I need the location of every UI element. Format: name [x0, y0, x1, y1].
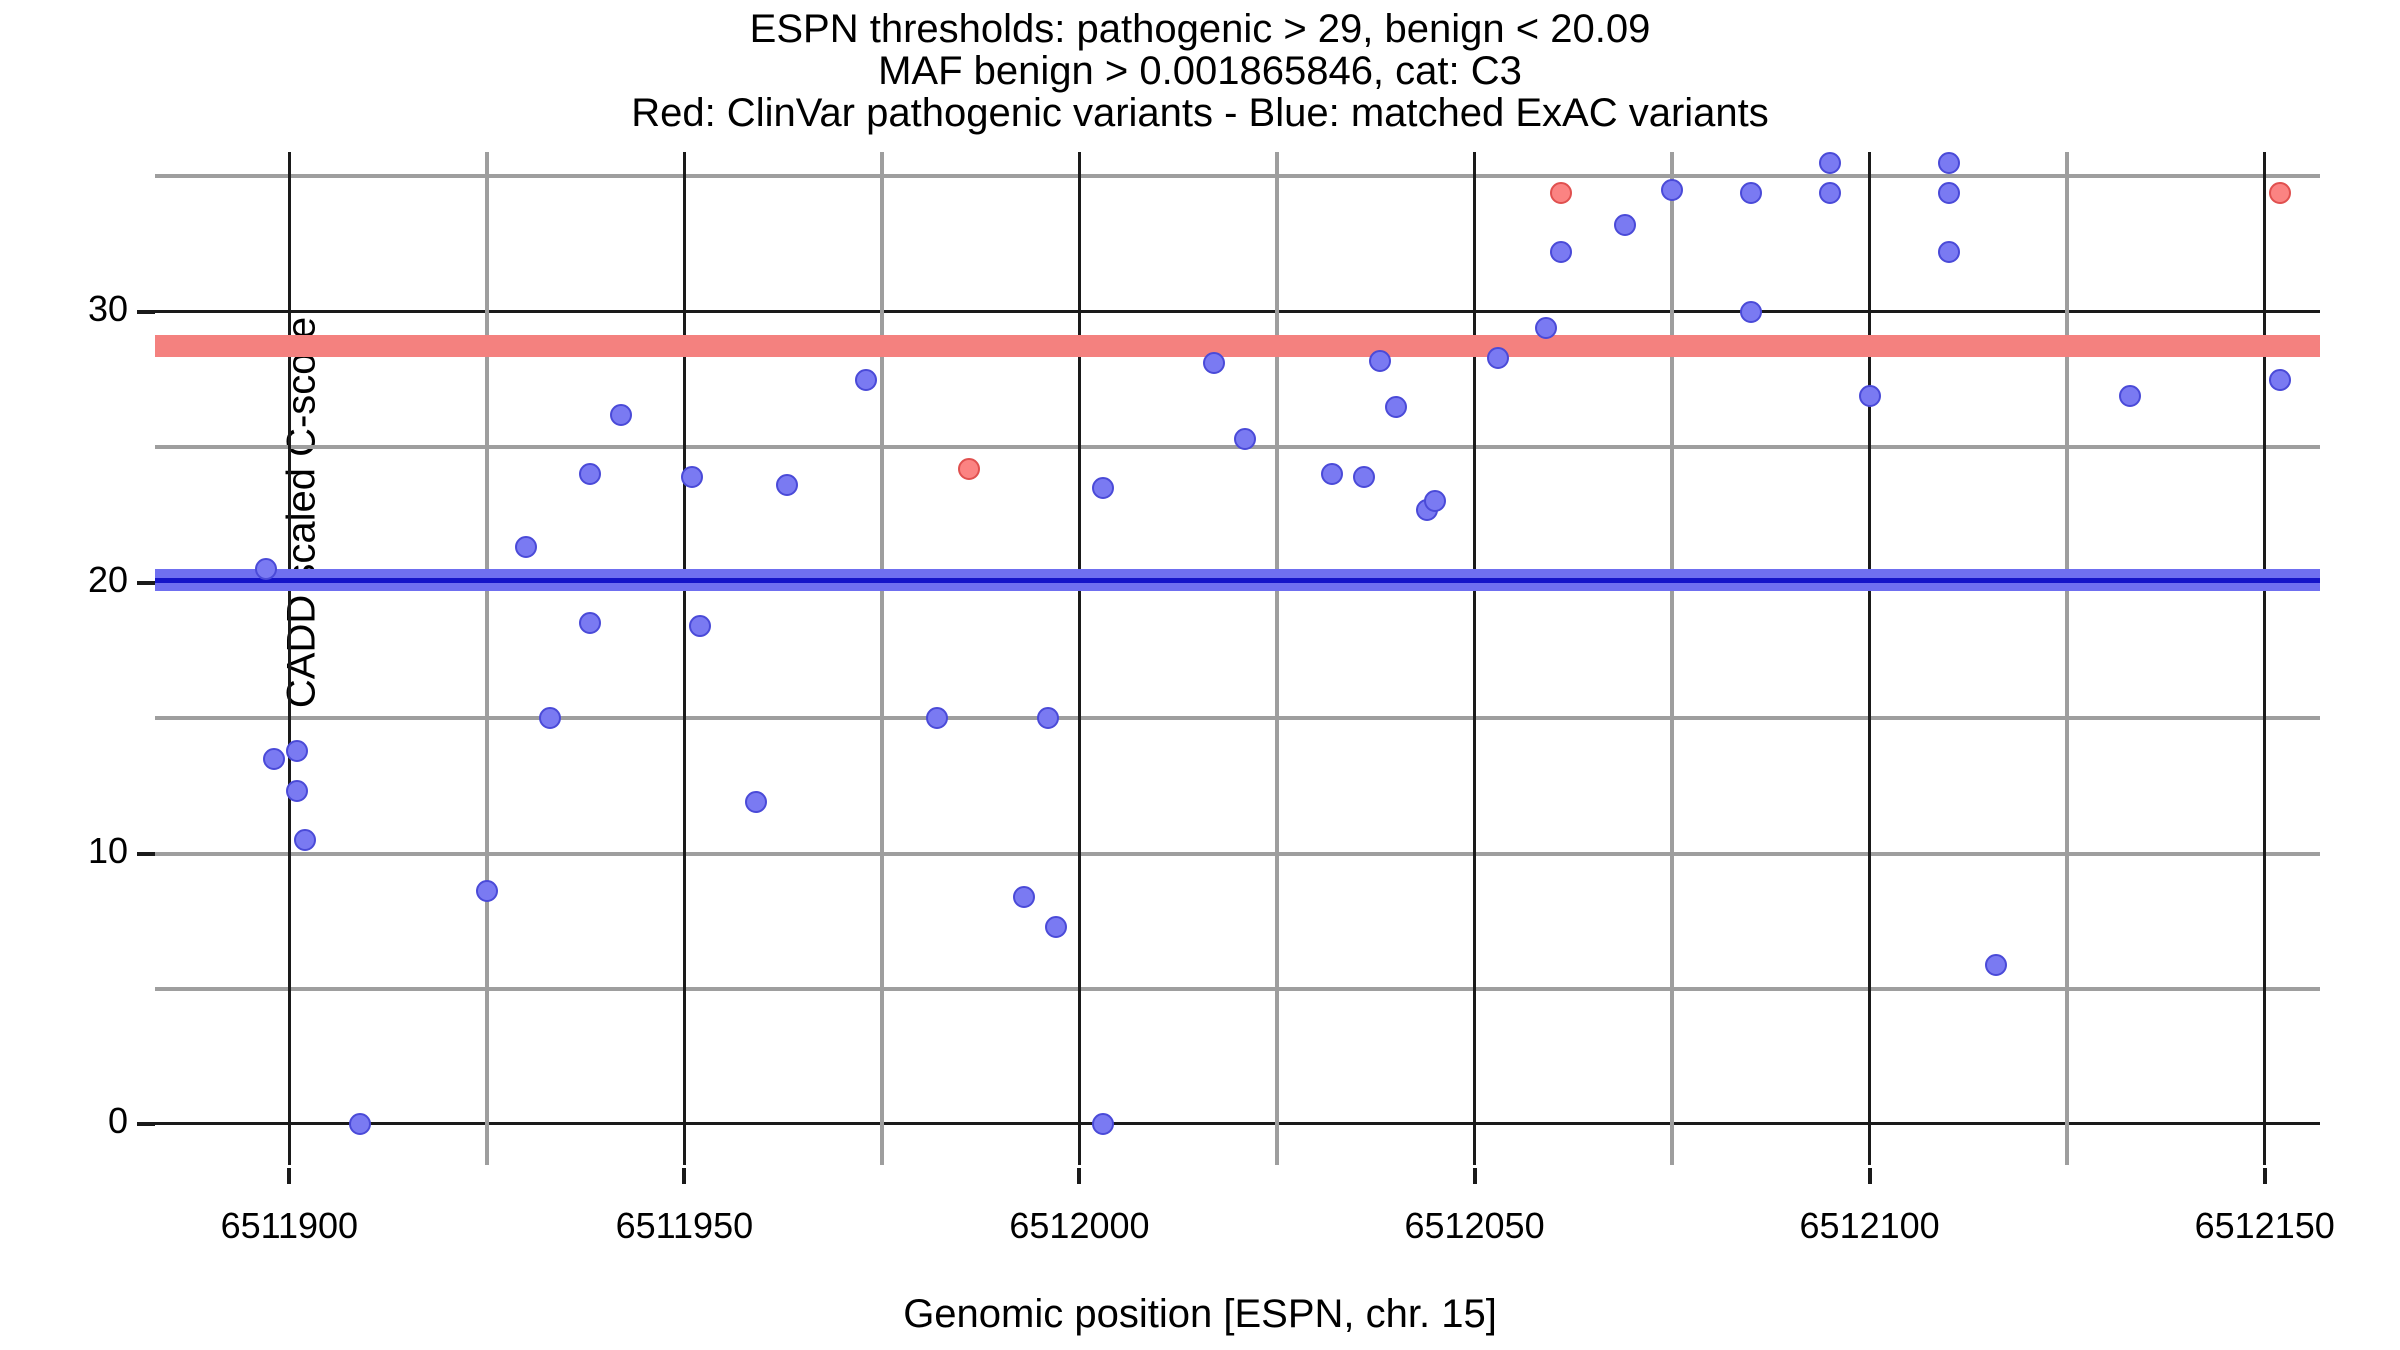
y-axis-tick-label: 20 — [18, 559, 128, 601]
exac-variant-point[interactable] — [1487, 347, 1509, 369]
chart-title: ESPN thresholds: pathogenic > 29, benign… — [0, 8, 2400, 134]
exac-variant-point[interactable] — [579, 463, 601, 485]
exac-variant-point[interactable] — [1092, 477, 1114, 499]
gridline-vertical — [1275, 152, 1279, 1165]
exac-variant-point[interactable] — [286, 740, 308, 762]
x-axis-tick-mark — [1473, 1168, 1477, 1184]
clinvar-pathogenic-point[interactable] — [958, 458, 980, 480]
exac-variant-point[interactable] — [1092, 1113, 1114, 1135]
x-axis-tick-mark — [2263, 1168, 2267, 1184]
exac-variant-point[interactable] — [1037, 707, 1059, 729]
scatter-plot-figure: ESPN thresholds: pathogenic > 29, benign… — [0, 0, 2400, 1350]
axis-line-vertical — [683, 152, 686, 1165]
plot-area — [155, 152, 2320, 1165]
x-axis-tick-label: 6511900 — [159, 1205, 419, 1247]
axis-line-vertical — [1078, 152, 1081, 1165]
gridline-vertical — [485, 152, 489, 1165]
exac-variant-point[interactable] — [1859, 385, 1881, 407]
x-axis-tick-label: 6512050 — [1345, 1205, 1605, 1247]
exac-variant-point[interactable] — [855, 369, 877, 391]
exac-variant-point[interactable] — [515, 536, 537, 558]
x-axis-tick-label: 6512000 — [949, 1205, 1209, 1247]
exac-variant-point[interactable] — [1614, 214, 1636, 236]
gridline-horizontal — [155, 852, 2320, 856]
exac-variant-point[interactable] — [1819, 182, 1841, 204]
exac-variant-point[interactable] — [1369, 350, 1391, 372]
exac-variant-point[interactable] — [681, 466, 703, 488]
exac-variant-point[interactable] — [1353, 466, 1375, 488]
exac-variant-point[interactable] — [286, 780, 308, 802]
y-axis-tick-label: 30 — [18, 288, 128, 330]
axis-line-vertical — [288, 152, 291, 1165]
exac-variant-point[interactable] — [2119, 385, 2141, 407]
exac-variant-point[interactable] — [1985, 954, 2007, 976]
x-axis-tick-label: 6511950 — [554, 1205, 814, 1247]
axis-line-vertical — [1473, 152, 1476, 1165]
y-axis-tick-mark — [137, 310, 155, 314]
clinvar-pathogenic-point[interactable] — [2269, 182, 2291, 204]
exac-variant-point[interactable] — [263, 748, 285, 770]
exac-variant-point[interactable] — [1819, 152, 1841, 174]
exac-variant-point[interactable] — [294, 829, 316, 851]
exac-variant-point[interactable] — [1661, 179, 1683, 201]
exac-variant-point[interactable] — [1424, 490, 1446, 512]
exac-variant-point[interactable] — [1938, 152, 1960, 174]
chart-title-line-1: ESPN thresholds: pathogenic > 29, benign… — [0, 8, 2400, 50]
x-axis-tick-label: 6512100 — [1740, 1205, 2000, 1247]
x-axis-tick-mark — [287, 1168, 291, 1184]
exac-variant-point[interactable] — [1550, 241, 1572, 263]
exac-variant-point[interactable] — [1535, 317, 1557, 339]
x-axis-tick-mark — [1077, 1168, 1081, 1184]
x-axis-tick-mark — [682, 1168, 686, 1184]
exac-variant-point[interactable] — [1045, 916, 1067, 938]
gridline-horizontal — [155, 987, 2320, 991]
exac-variant-point[interactable] — [1938, 182, 1960, 204]
gridline-horizontal — [155, 174, 2320, 178]
clinvar-pathogenic-point[interactable] — [1550, 182, 1572, 204]
exac-variant-point[interactable] — [610, 404, 632, 426]
exac-variant-point[interactable] — [1321, 463, 1343, 485]
exac-variant-point[interactable] — [476, 880, 498, 902]
exac-variant-point[interactable] — [926, 707, 948, 729]
gridline-vertical — [2065, 152, 2069, 1165]
pathogenic-threshold-band — [155, 335, 2320, 357]
y-axis-tick-mark — [137, 1122, 155, 1126]
exac-variant-point[interactable] — [539, 707, 561, 729]
x-axis-tick-mark — [1868, 1168, 1872, 1184]
exac-variant-point[interactable] — [689, 615, 711, 637]
gridline-horizontal — [155, 716, 2320, 720]
exac-variant-point[interactable] — [1203, 352, 1225, 374]
gridline-vertical — [880, 152, 884, 1165]
chart-title-line-2: MAF benign > 0.001865846, cat: C3 — [0, 50, 2400, 92]
exac-variant-point[interactable] — [1740, 182, 1762, 204]
exac-variant-point[interactable] — [1740, 301, 1762, 323]
benign-threshold-line — [155, 578, 2320, 583]
exac-variant-point[interactable] — [745, 791, 767, 813]
exac-variant-point[interactable] — [1385, 396, 1407, 418]
gridline-horizontal — [155, 310, 2320, 313]
gridline-vertical — [1670, 152, 1674, 1165]
y-axis-tick-label: 0 — [18, 1100, 128, 1142]
exac-variant-point[interactable] — [349, 1113, 371, 1135]
exac-variant-point[interactable] — [1938, 241, 1960, 263]
exac-variant-point[interactable] — [1013, 886, 1035, 908]
exac-variant-point[interactable] — [579, 612, 601, 634]
x-axis-tick-label: 6512150 — [2135, 1205, 2395, 1247]
y-axis-tick-mark — [137, 581, 155, 585]
gridline-horizontal — [155, 1122, 2320, 1125]
axis-line-vertical — [1868, 152, 1871, 1165]
chart-title-line-3: Red: ClinVar pathogenic variants - Blue:… — [0, 92, 2400, 134]
axis-line-vertical — [2263, 152, 2266, 1165]
exac-variant-point[interactable] — [776, 474, 798, 496]
x-axis-label: Genomic position [ESPN, chr. 15] — [0, 1292, 2400, 1337]
exac-variant-point[interactable] — [255, 558, 277, 580]
exac-variant-point[interactable] — [2269, 369, 2291, 391]
y-axis-tick-label: 10 — [18, 830, 128, 872]
y-axis-tick-mark — [137, 852, 155, 856]
